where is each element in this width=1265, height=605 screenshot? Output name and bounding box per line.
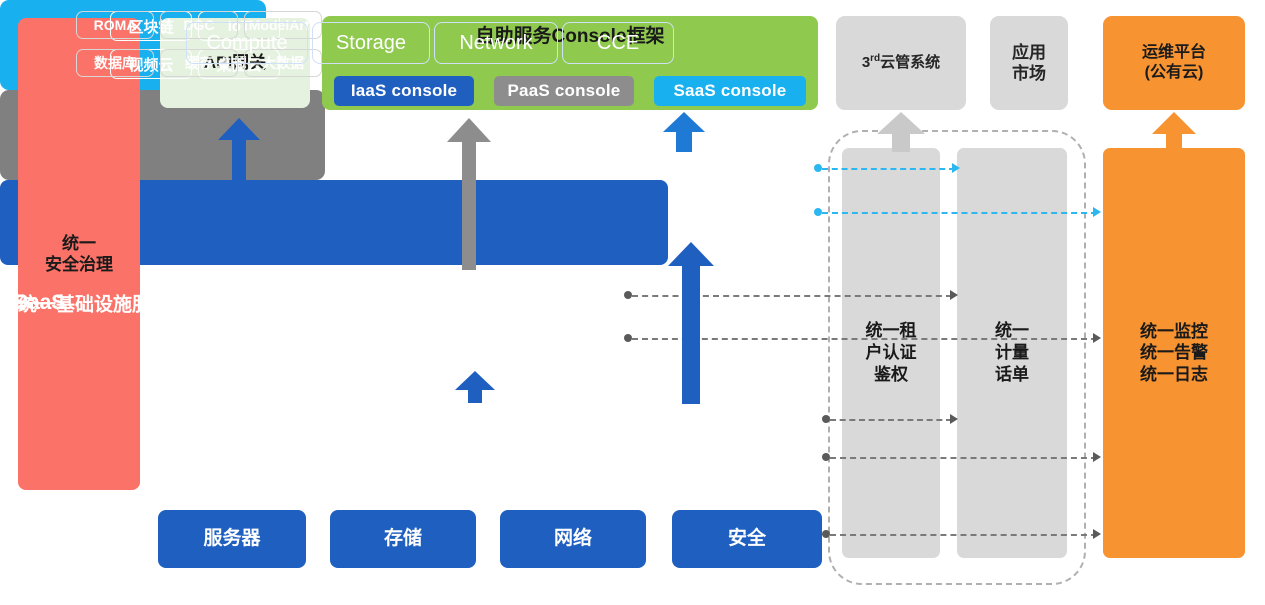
arrow-head-up-icon [663,112,705,132]
paas-console-chip[interactable]: PaaS console [494,76,634,106]
connector-arrowhead-hardware-ops [1093,529,1101,539]
paas-console-label: PaaS console [508,80,621,101]
arrow-infra-to-paas [455,371,495,403]
paas-chip-database-label: 数据库 [94,53,136,73]
third-party-cloud-label: 3rd云管系统 [862,53,940,73]
connector-arrowhead-paas-ops [1093,333,1101,343]
connector-dot-saas-auth [814,164,822,172]
unified-tenant-auth-line2: 户认证 [866,342,917,364]
unified-metering-label: 统一 计量 话单 [995,320,1029,386]
ops-platform-line2: (公有云) [1142,63,1206,83]
arrow-shaft [676,130,692,152]
arrow-to-ops-platform [1152,112,1196,152]
infra-chip-network-label: Network [459,32,532,55]
arrow-shaft [892,130,910,152]
connector-dot-hardware-ops [822,530,830,538]
app-market-box[interactable]: 应用 市场 [990,16,1068,110]
arrow-paas-to-console [447,118,491,270]
unified-metering-line2: 计量 [995,342,1029,364]
connector-line-infra-auth [830,419,952,421]
hardware-box-network[interactable]: 网络 [500,510,646,568]
connector-arrowhead-saas-auth [952,163,960,173]
third-party-superscript: rd [870,53,880,64]
arrow-shaft [682,264,700,404]
arrow-shaft [462,138,476,270]
hardware-box-storage-label: 存储 [384,527,422,551]
hardware-box-security-label: 安全 [728,527,766,551]
connector-dot-paas-ops [624,334,632,342]
iaas-console-chip[interactable]: IaaS console [334,76,474,106]
saas-console-label: SaaS console [674,80,787,101]
ops-monitoring-line3: 统一日志 [1140,364,1208,385]
third-party-prefix: 3 [862,54,870,71]
saas-console-chip[interactable]: SaaS console [654,76,806,106]
connector-arrowhead-saas-ops [1093,207,1101,217]
architecture-diagram: 统一 安全治理 API网关 自助服务Console框架 IaaS console… [0,0,1265,605]
arrow-shaft [232,136,246,236]
paas-chip-roma[interactable]: ROMA [76,11,154,39]
ops-monitoring-label: 统一监控 统一告警 统一日志 [1140,321,1208,385]
app-market-label: 应用 市场 [1012,42,1046,85]
infra-chip-storage-label: Storage [336,32,406,55]
arrow-shaft [468,389,482,403]
third-party-suffix: 云管系统 [880,54,940,71]
app-market-line1: 应用 [1012,42,1046,63]
ops-platform-box[interactable]: 运维平台 (公有云) [1103,16,1245,110]
iaas-console-label: IaaS console [351,80,457,101]
arrow-infra-to-api-gateway [218,118,260,236]
connector-arrowhead-infra-ops [1093,452,1101,462]
arrow-infra-to-saas [668,242,714,404]
unified-metering-column[interactable]: 统一 计量 话单 [957,148,1067,558]
ops-platform-line1: 运维平台 [1142,43,1206,63]
connector-arrowhead-infra-auth [950,414,958,424]
unified-tenant-auth-label: 统一租 户认证 鉴权 [866,320,917,386]
infra-chip-network[interactable]: Network [434,22,558,64]
hardware-box-server[interactable]: 服务器 [158,510,306,568]
infra-chip-compute[interactable]: Compute [186,22,308,64]
infra-chip-cce-label: CCE [597,32,639,55]
connector-arrowhead-paas-auth [950,290,958,300]
infra-chip-storage[interactable]: Storage [312,22,430,64]
connector-dot-infra-ops [822,453,830,461]
unified-infrastructure-services-label: 统一基础设施服务 [18,289,170,316]
arrow-to-third-party-cloud [877,112,925,152]
paas-chip-database[interactable]: 数据库 [76,49,154,77]
security-governance-line2: 安全治理 [45,254,113,275]
unified-tenant-auth-column[interactable]: 统一租 户认证 鉴权 [842,148,940,558]
arrow-saas-to-console [663,112,705,152]
hardware-box-network-label: 网络 [554,527,592,551]
hardware-box-security[interactable]: 安全 [672,510,822,568]
hardware-box-server-label: 服务器 [203,527,260,551]
security-governance-label: 统一 安全治理 [45,233,113,276]
ops-monitoring-line1: 统一监控 [1140,321,1208,342]
connector-line-saas-ops [822,212,1097,214]
ops-monitoring-line2: 统一告警 [1140,342,1208,363]
unified-metering-line3: 话单 [995,364,1029,386]
arrow-head-up-icon [668,242,714,266]
connector-dot-infra-auth [822,415,830,423]
ops-monitoring-column[interactable]: 统一监控 统一告警 统一日志 [1103,148,1245,558]
security-governance-line1: 统一 [45,233,113,254]
security-governance-column[interactable]: 统一 安全治理 [18,18,140,490]
connector-line-saas-auth [822,168,955,170]
connector-dot-paas-auth [624,291,632,299]
connector-line-hardware-ops [830,534,1097,536]
app-market-line2: 市场 [1012,63,1046,84]
arrow-head-up-icon [455,371,495,390]
third-party-cloud-management-box[interactable]: 3rd云管系统 [836,16,966,110]
infra-chip-compute-label: Compute [206,32,287,55]
paas-chip-roma-label: ROMA [94,17,137,33]
arrow-shaft [1166,130,1182,152]
unified-tenant-auth-line3: 鉴权 [866,364,917,386]
infra-chip-cce[interactable]: CCE [562,22,674,64]
connector-line-infra-ops [830,457,1097,459]
connector-dot-saas-ops [814,208,822,216]
ops-platform-label: 运维平台 (公有云) [1142,43,1206,83]
hardware-box-storage[interactable]: 存储 [330,510,476,568]
